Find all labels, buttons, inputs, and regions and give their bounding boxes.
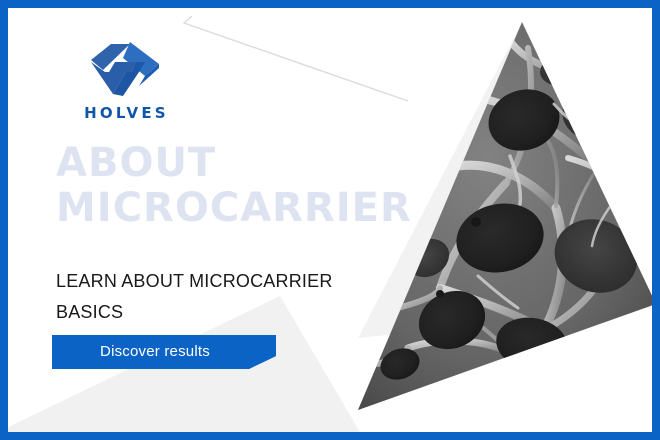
pore xyxy=(410,281,495,360)
pore xyxy=(376,343,424,385)
discover-results-button[interactable]: Discover results xyxy=(52,335,276,369)
pore xyxy=(557,83,634,148)
discover-results-label: Discover results xyxy=(100,335,210,369)
pore-small xyxy=(436,290,444,298)
ghost-headline-line1: ABOUT xyxy=(56,140,216,186)
brand-logo[interactable]: HOLVES xyxy=(60,38,190,122)
promo-banner: HOLVES ABOUT MICROCARRIER LEARN ABOUT MI… xyxy=(0,0,660,440)
holves-diamond-h-logo-icon xyxy=(89,38,161,100)
banner-canvas: HOLVES ABOUT MICROCARRIER LEARN ABOUT MI… xyxy=(8,8,652,432)
subtitle-line2: BASICS xyxy=(56,302,123,322)
pore xyxy=(492,312,572,376)
brand-name: HOLVES xyxy=(60,104,190,122)
chevron-line xyxy=(184,16,408,101)
subtitle: LEARN ABOUT MICROCARRIER BASICS xyxy=(56,266,386,328)
ghost-headline: ABOUT MICROCARRIER xyxy=(56,141,652,231)
subtitle-line1: LEARN ABOUT MICROCARRIER xyxy=(56,271,333,291)
pore xyxy=(400,231,456,284)
pore xyxy=(538,51,590,89)
ghost-headline-line2: MICROCARRIER xyxy=(56,186,652,231)
